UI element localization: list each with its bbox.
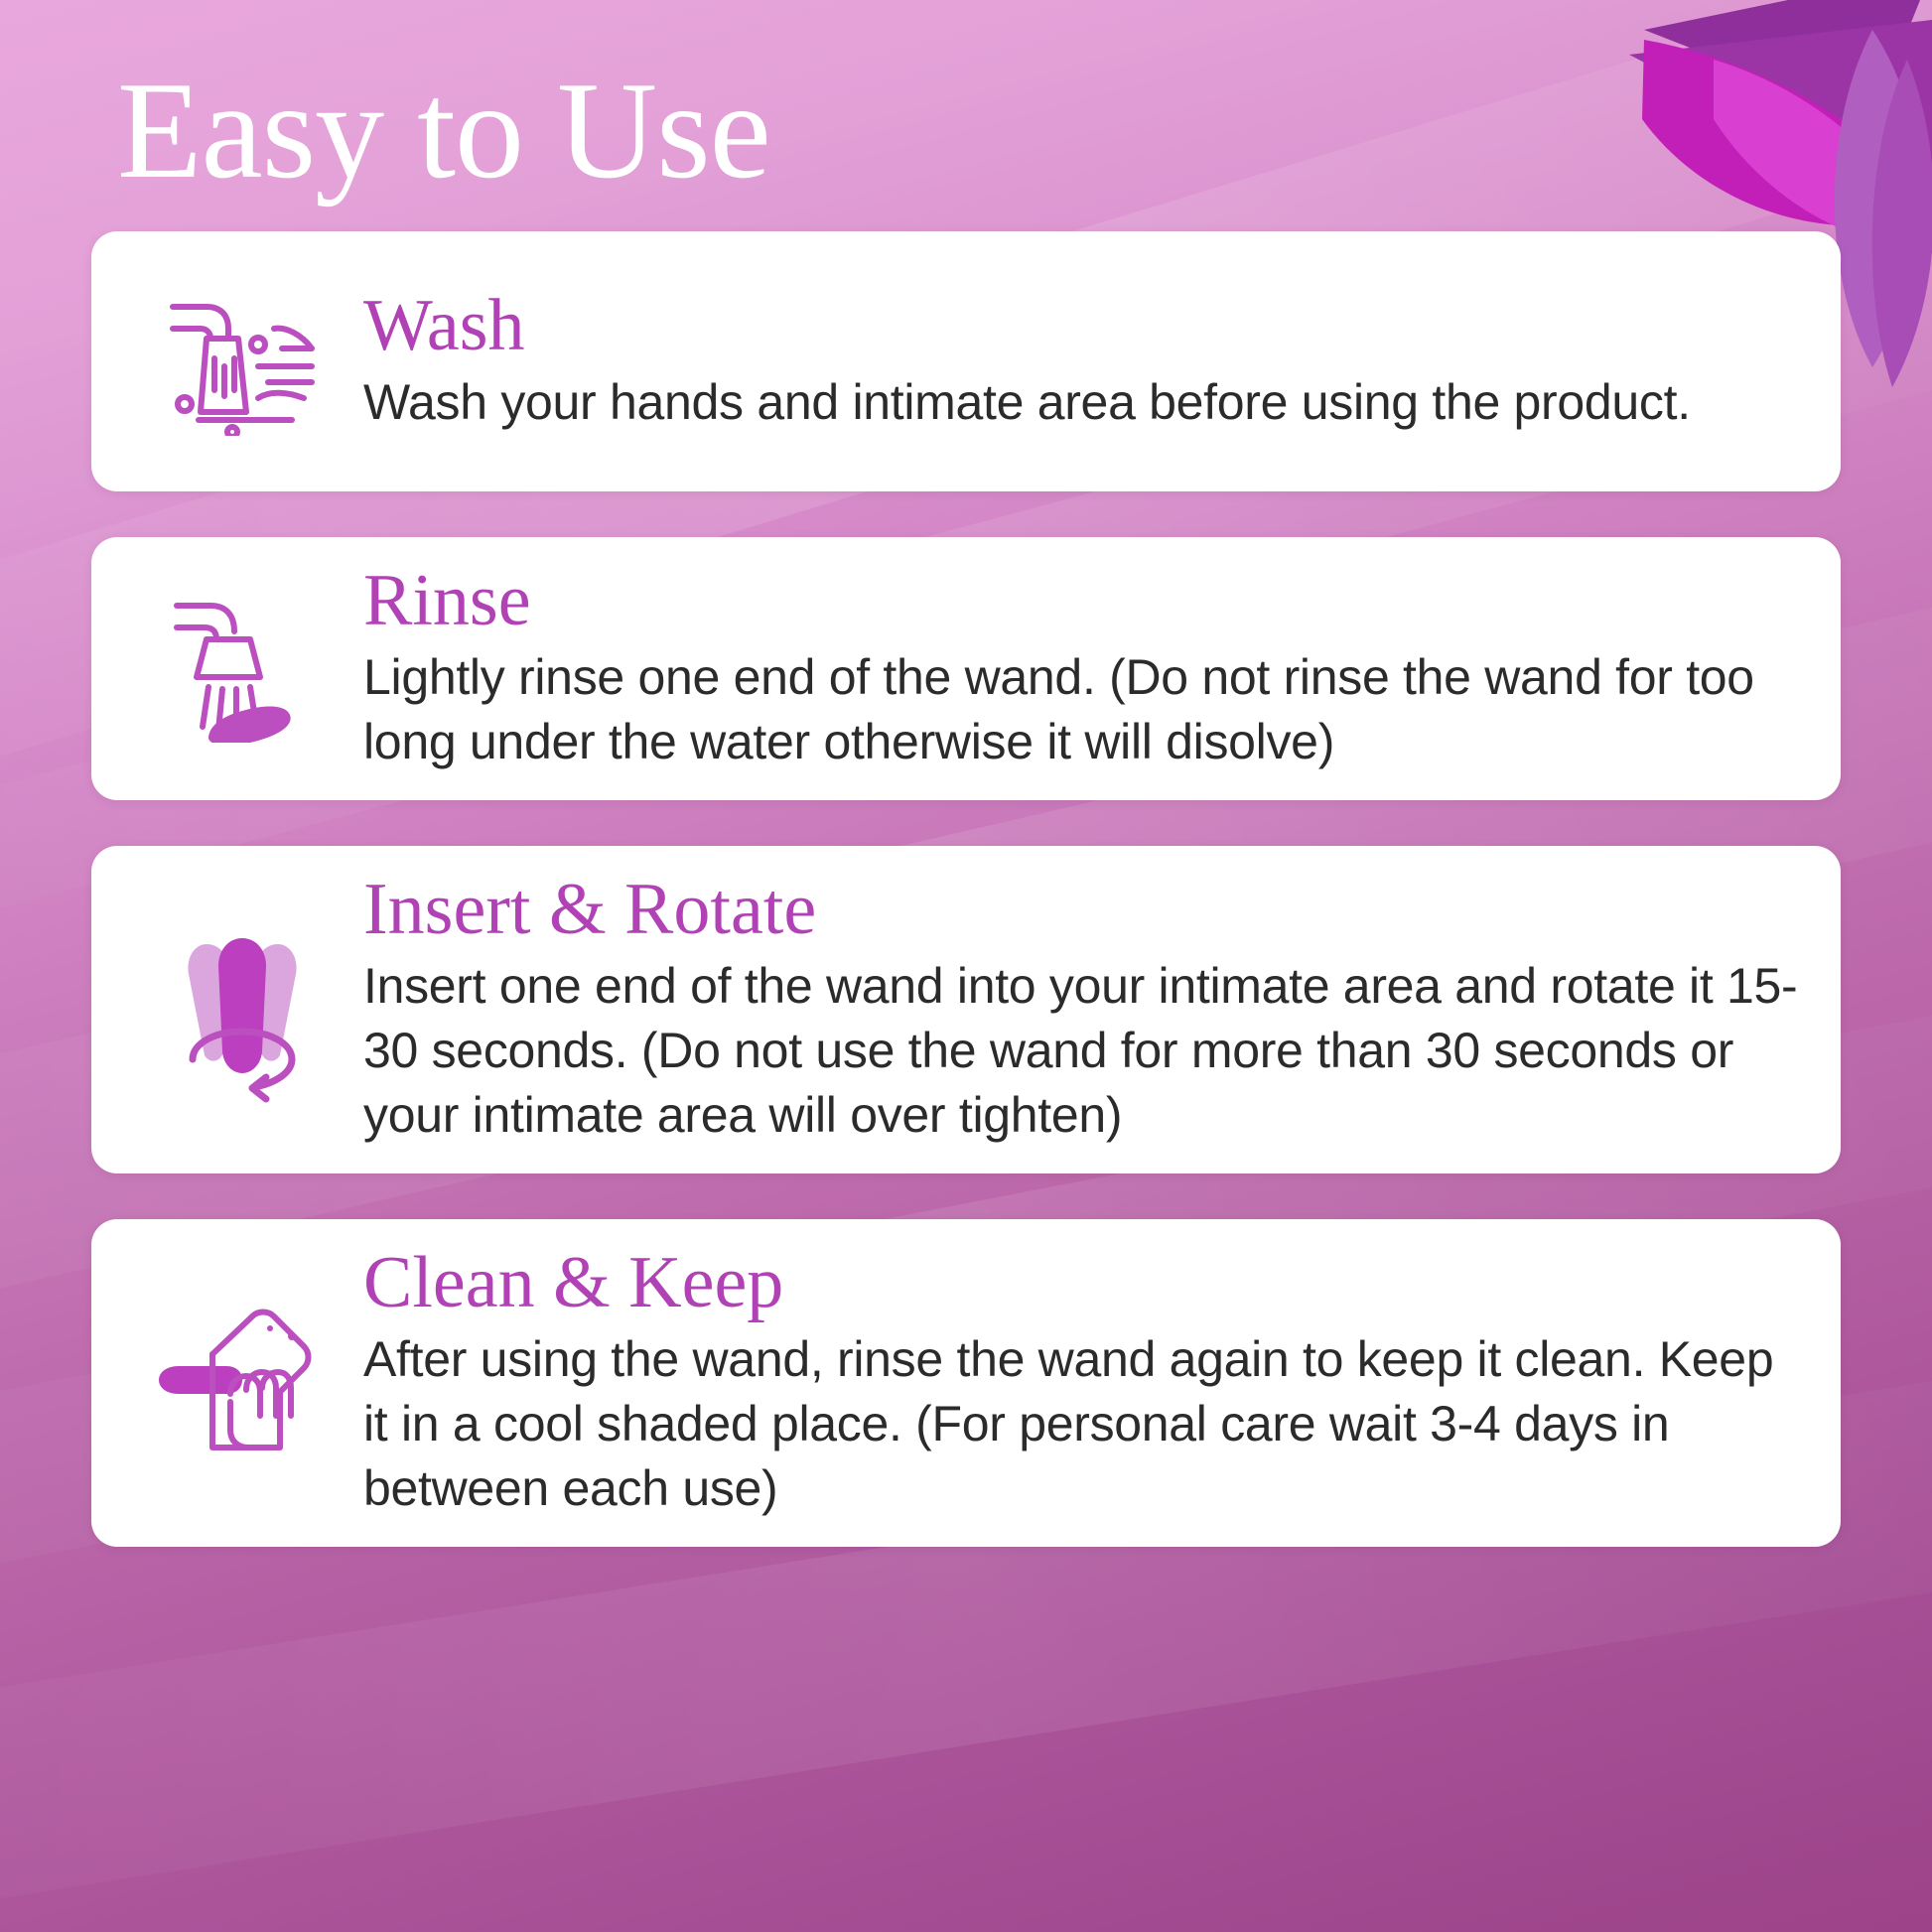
step-text: After using the wand, rinse the wand aga… (363, 1327, 1801, 1521)
wand-center (218, 938, 266, 1073)
step-card-rinse: Rinse Lightly rinse one end of the wand.… (91, 537, 1841, 800)
step-heading: Insert & Rotate (363, 872, 1801, 948)
step-text: Lightly rinse one end of the wand. (Do n… (363, 645, 1801, 774)
step-body: Rinse Lightly rinse one end of the wand.… (355, 563, 1801, 774)
step-heading: Rinse (363, 563, 1801, 639)
leaf-shape (1872, 60, 1932, 387)
step-text: Insert one end of the wand into your int… (363, 954, 1801, 1148)
step-text: Wash your hands and intimate area before… (363, 370, 1801, 435)
steps-list: Wash Wash your hands and intimate area b… (91, 231, 1841, 1547)
shower-rinse-wand-icon (129, 594, 355, 743)
leaf-shape (1642, 40, 1932, 225)
leaf-shape (1714, 60, 1930, 242)
leaf-shape (1629, 20, 1932, 213)
page-title: Easy to Use (117, 62, 770, 201)
wand-rotate-icon (129, 910, 355, 1109)
step-heading: Wash (363, 288, 1801, 364)
leaf-shape (1835, 30, 1921, 367)
hand-wash-faucet-icon (129, 287, 355, 436)
step-body: Wash Wash your hands and intimate area b… (355, 288, 1801, 435)
step-body: Clean & Keep After using the wand, rinse… (355, 1245, 1801, 1521)
step-card-insert-rotate: Insert & Rotate Insert one end of the wa… (91, 846, 1841, 1173)
leaf-shape (1644, 0, 1932, 119)
step-card-clean-keep: Clean & Keep After using the wand, rinse… (91, 1219, 1841, 1547)
step-card-wash: Wash Wash your hands and intimate area b… (91, 231, 1841, 491)
step-body: Insert & Rotate Insert one end of the wa… (355, 872, 1801, 1148)
hand-clean-wand-icon (129, 1299, 355, 1467)
step-heading: Clean & Keep (363, 1245, 1801, 1321)
